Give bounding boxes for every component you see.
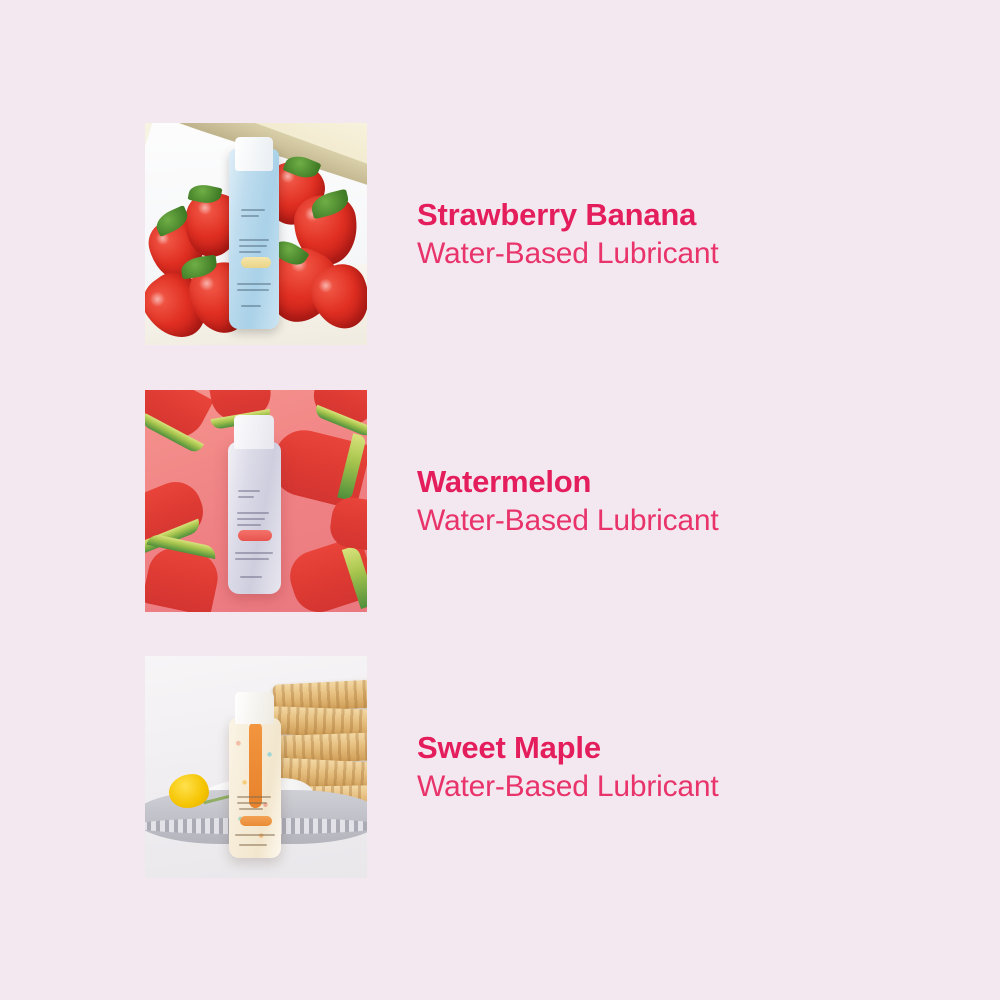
product-flavor-list: Strawberry Banana Water-Based Lubricant (0, 0, 1000, 1000)
bottle-label-line (239, 245, 267, 247)
bottle-label-line (237, 524, 261, 526)
product-caption: Strawberry Banana Water-Based Lubricant (417, 197, 719, 272)
bottle-label-line (237, 796, 271, 798)
product-flavor-name: Strawberry Banana (417, 197, 719, 234)
bottle-label-line (239, 844, 267, 846)
bottle-label-line (240, 576, 262, 578)
product-flavor-name: Watermelon (417, 464, 719, 501)
product-subtitle: Water-Based Lubricant (417, 769, 719, 804)
product-photo-watermelon[interactable] (145, 390, 367, 612)
product-row[interactable]: Sweet Maple Water-Based Lubricant (145, 656, 905, 878)
bottle-label-line (237, 518, 265, 520)
bottle-flavor-badge (238, 530, 272, 541)
bottle-label-line (241, 305, 261, 307)
bottle-label-line (239, 251, 261, 253)
product-row[interactable]: Strawberry Banana Water-Based Lubricant (145, 123, 905, 345)
bottle-cap (235, 692, 274, 724)
bottle-label-line (238, 496, 254, 498)
bottle-label-line (237, 802, 267, 804)
bottle-label-line (235, 552, 273, 554)
bottle-label-line (241, 215, 259, 217)
product-row[interactable]: Watermelon Water-Based Lubricant (145, 390, 905, 612)
bottle-label-line (239, 808, 263, 810)
bottle-label-line (238, 490, 260, 492)
bottle-label-line (239, 239, 269, 241)
yellow-flower-decor (169, 774, 209, 808)
bottle-flavor-badge (241, 257, 271, 268)
product-photo-sweet-maple[interactable] (145, 656, 367, 878)
product-photo-strawberry-banana[interactable] (145, 123, 367, 345)
bottle-label-line (237, 512, 269, 514)
product-subtitle: Water-Based Lubricant (417, 503, 719, 538)
bottle-cap (235, 137, 273, 171)
bottle-label-line (241, 209, 265, 211)
product-flavor-name: Sweet Maple (417, 730, 719, 767)
bottle-cap (234, 415, 274, 449)
bottle-flavor-badge (240, 816, 272, 826)
product-caption: Sweet Maple Water-Based Lubricant (417, 730, 719, 805)
bottle-label-line (235, 834, 275, 836)
product-subtitle: Water-Based Lubricant (417, 236, 719, 271)
product-caption: Watermelon Water-Based Lubricant (417, 464, 719, 539)
bottle-label-line (237, 289, 269, 291)
bottle-label-line (237, 283, 271, 285)
bottle-label-line (235, 558, 269, 560)
